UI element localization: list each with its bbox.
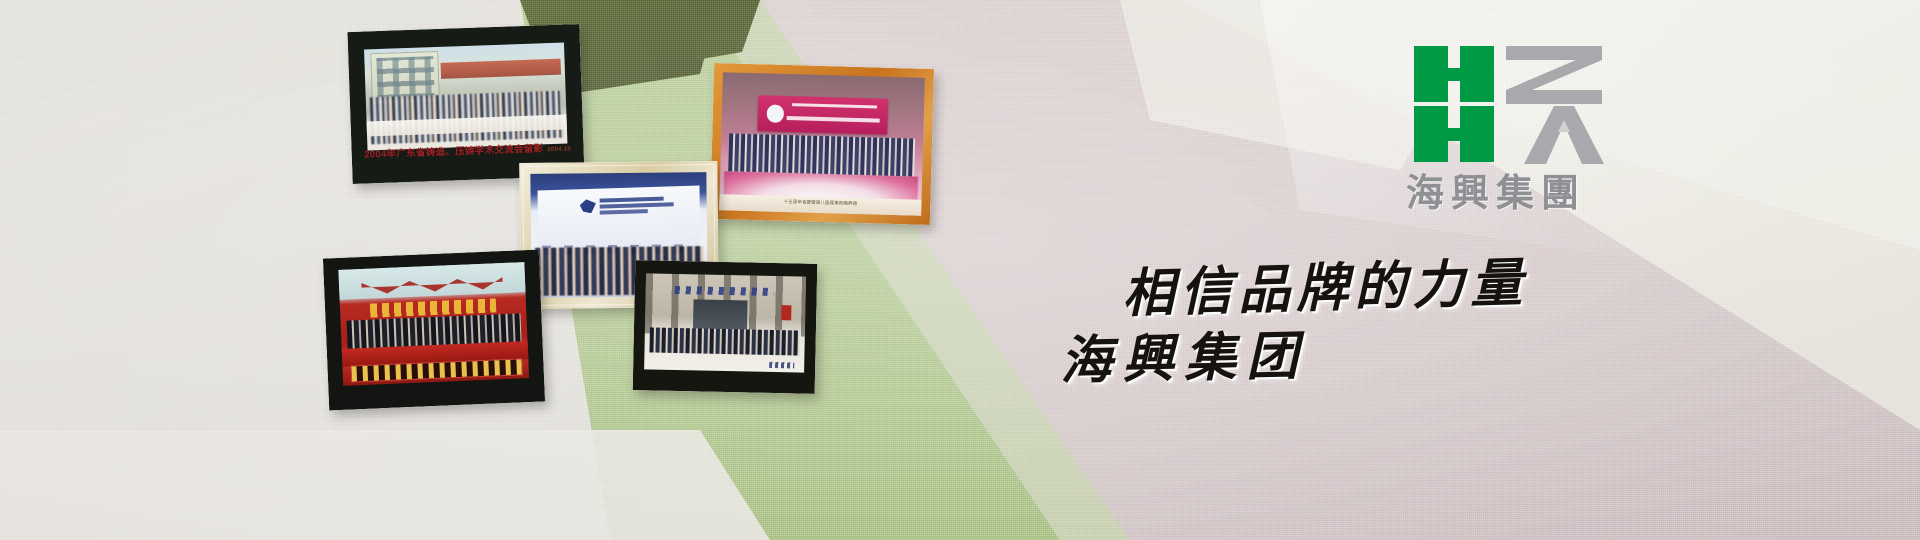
brand-slogan: 相信品牌的力量 海興集团 [1060,240,1580,420]
photo-inner: 十五周年會慶暨第八屆理事就職典禮 [710,63,934,225]
banner-title-line1 [792,103,877,108]
photo-caption-date: 2004.10 [547,147,571,154]
brand-honors-banner: 2004年广东省铸造、压铸学术交流会留影2004.10 十五周年會慶暨第八屆理事… [0,0,1920,540]
photo-inner: 2004年广东省铸造、压铸学术交流会留影2004.10 [347,24,584,184]
stage-banner [758,95,888,134]
crowd-row [649,327,800,355]
hk-awards-logo-icon [580,199,596,214]
photo-image [719,72,925,216]
slogan-line-2: 海興集团 [1059,313,1309,393]
banner-title-line2 [786,116,879,123]
company-logo[interactable]: 海興集團 [1414,46,1604,212]
logo-gray-a [1524,106,1604,164]
logo-chinese-name: 海興集團 [1406,162,1610,217]
photo-image [644,273,806,373]
roof-shape [441,59,561,79]
logo-gray-z [1506,46,1602,104]
photo-inner [633,260,818,394]
photo-red-backdrop-ceremony-2014[interactable] [323,250,545,411]
background-artwork [0,0,1920,540]
photo-guangdong-casting-conference-2004[interactable]: 2004年广东省铸造、压铸学术交流会留影2004.10 [347,24,584,184]
photo-association-anniversary-ceremony[interactable]: 十五周年會慶暨第八屆理事就職典禮 [710,63,934,225]
photo-image [364,43,567,150]
award-title-en-line1 [599,202,673,208]
slogan-line-1: 相信品牌的力量 [1121,240,1529,326]
crowd-row [728,133,915,177]
flag-icon [781,305,791,321]
photo-date-stamp [769,362,795,369]
award-title-en-line2 [599,209,648,215]
photo-inner [323,250,545,411]
photo-image [339,262,529,385]
logo-letters [1414,46,1604,164]
background-shapes [0,0,1920,540]
logo-green-h-group [1414,46,1494,162]
award-title-cn [599,197,664,203]
photo-building-entrance-group-photo[interactable] [633,260,818,394]
association-emblem-icon [767,105,784,123]
